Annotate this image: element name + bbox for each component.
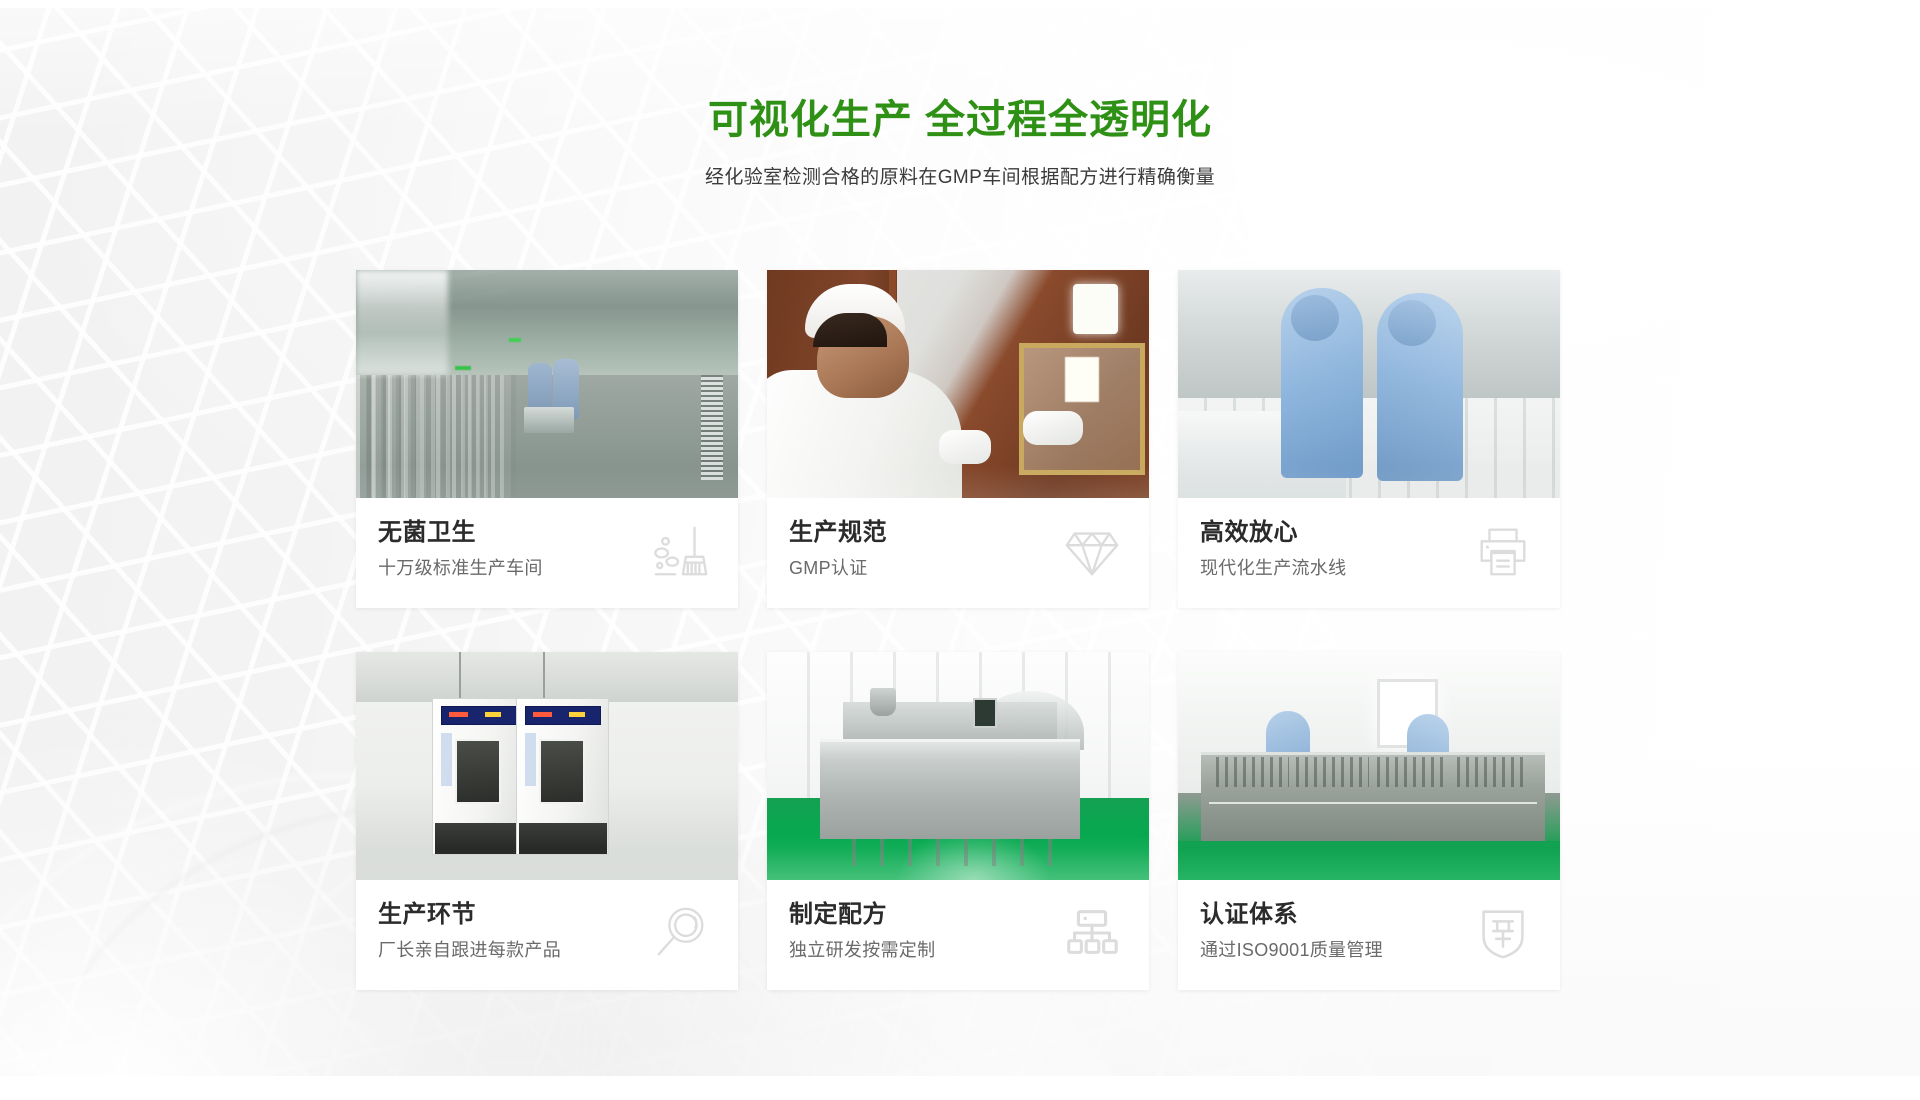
header-block: 可视化生产 全过程全透明化 经化验室检测合格的原料在GMP车间根据配方进行精确衡… — [0, 98, 1920, 189]
diamond-icon — [1061, 520, 1123, 582]
printer-icon — [1472, 520, 1534, 582]
feature-card[interactable]: 无菌卫生 十万级标准生产车间 — [356, 270, 738, 608]
page-subtitle: 经化验室检测合格的原料在GMP车间根据配方进行精确衡量 — [0, 162, 1920, 189]
card-caption: 制定配方 独立研发按需定制 — [767, 880, 1149, 990]
feature-card-grid: 无菌卫生 十万级标准生产车间 — [356, 270, 1560, 990]
feature-card[interactable]: 认证体系 通过ISO9001质量管理 — [1178, 652, 1560, 990]
feature-card[interactable]: 制定配方 独立研发按需定制 — [767, 652, 1149, 990]
magnifier-icon — [650, 902, 712, 964]
lab-cabinets-photo — [356, 652, 738, 880]
technician-inspection-photo — [767, 270, 1149, 498]
card-caption: 无菌卫生 十万级标准生产车间 — [356, 498, 738, 608]
card-caption: 生产规范 GMP认证 — [767, 498, 1149, 608]
filling-machine-photo — [767, 652, 1149, 880]
sitemap-hierarchy-icon — [1061, 902, 1123, 964]
tunnel-sterilizer-photo — [1178, 652, 1560, 880]
broom-cleaning-icon — [650, 520, 712, 582]
card-caption: 生产环节 厂长亲自跟进每款产品 — [356, 880, 738, 990]
card-caption: 高效放心 现代化生产流水线 — [1178, 498, 1560, 608]
card-caption: 认证体系 通过ISO9001质量管理 — [1178, 880, 1560, 990]
cleanroom-corridor-photo — [356, 270, 738, 498]
feature-card[interactable]: 生产规范 GMP认证 — [767, 270, 1149, 608]
feature-card[interactable]: 生产环节 厂长亲自跟进每款产品 — [356, 652, 738, 990]
shield-quality-icon — [1472, 902, 1534, 964]
workers-blue-suits-photo — [1178, 270, 1560, 498]
page-title: 可视化生产 全过程全透明化 — [0, 98, 1920, 142]
feature-card[interactable]: 高效放心 现代化生产流水线 — [1178, 270, 1560, 608]
page-root: 可视化生产 全过程全透明化 经化验室检测合格的原料在GMP车间根据配方进行精确衡… — [0, 0, 1920, 1100]
